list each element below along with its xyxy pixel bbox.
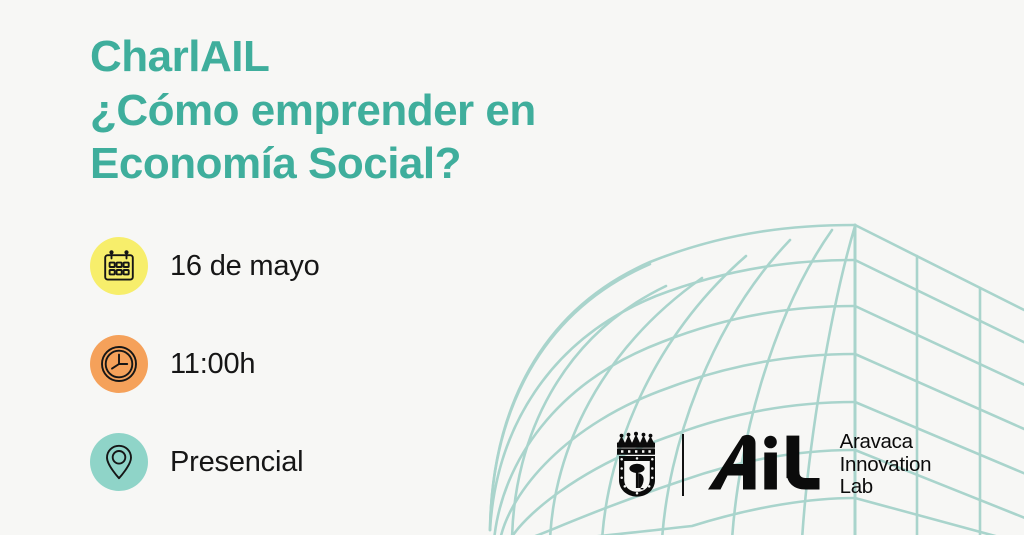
ail-name-line-1: Aravaca	[840, 431, 932, 454]
headline-line-2: ¿Cómo emprender en	[90, 84, 690, 138]
logo-lockup: Aravaca Innovation Lab	[612, 428, 931, 502]
location-pin-icon	[90, 433, 148, 491]
event-details-list: 16 de mayo 11:00h	[90, 236, 510, 492]
event-poster: CharlAIL ¿Cómo emprender en Economía Soc…	[0, 0, 1024, 535]
event-detail-time: 11:00h	[90, 334, 510, 394]
ail-wordmark-icon	[706, 434, 834, 496]
event-date-label: 16 de mayo	[170, 250, 320, 283]
event-detail-place: Presencial	[90, 432, 510, 492]
logo-divider	[682, 434, 684, 496]
event-detail-date: 16 de mayo	[90, 236, 510, 296]
page-title: CharlAIL ¿Cómo emprender en Economía Soc…	[90, 30, 690, 191]
event-place-label: Presencial	[170, 446, 303, 479]
ail-name-line-3: Lab	[840, 476, 932, 499]
headline-line-3: Economía Social?	[90, 137, 690, 191]
madrid-coat-of-arms-icon	[612, 431, 662, 499]
calendar-icon	[90, 237, 148, 295]
ail-full-name: Aravaca Innovation Lab	[840, 431, 932, 499]
ail-name-line-2: Innovation	[840, 454, 932, 477]
event-time-label: 11:00h	[170, 348, 255, 381]
clock-icon	[90, 335, 148, 393]
headline-line-1: CharlAIL	[90, 30, 690, 84]
